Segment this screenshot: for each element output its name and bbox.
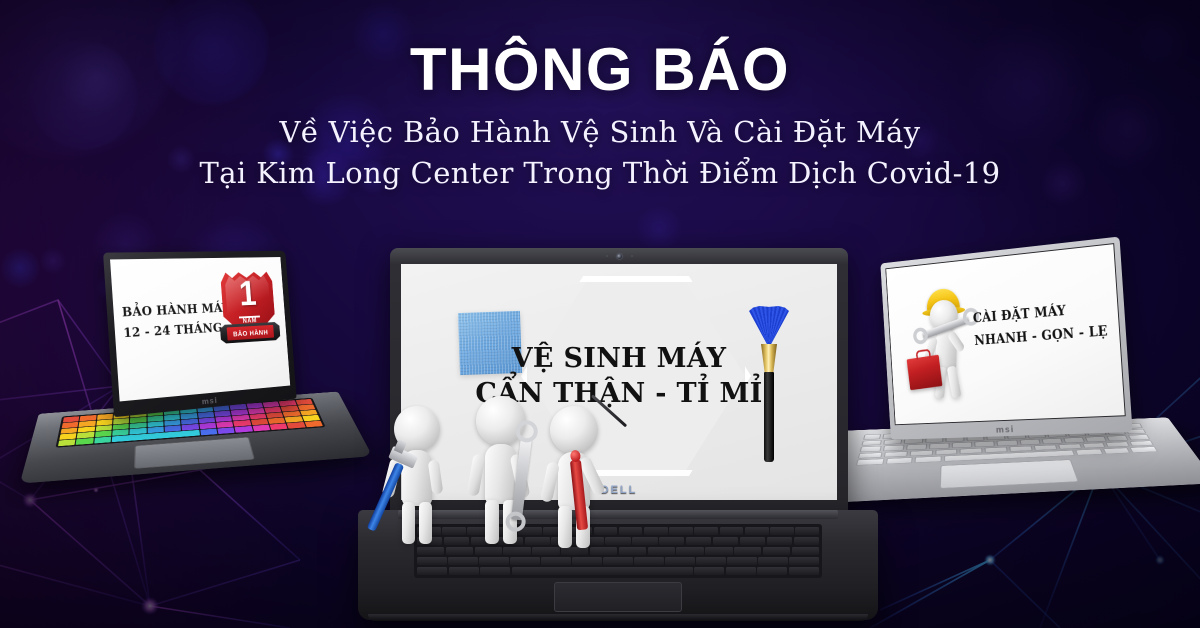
warranty-headline-line-2: 12 - 24 THÁNG	[123, 318, 232, 345]
warranty-badge: 1 NĂM BẢO HÀNH	[216, 271, 282, 358]
left-laptop-screen: BẢO HÀNH MÁY 12 - 24 THÁNG 1 NĂM BẢO HÀN…	[110, 257, 290, 401]
left-laptop-lid: BẢO HÀNH MÁY 12 - 24 THÁNG 1 NĂM BẢO HÀN…	[103, 251, 297, 417]
banner-stage: THÔNG BÁO Về Việc Bảo Hành Vệ Sinh Và Cà…	[0, 0, 1200, 628]
page-title: THÔNG BÁO	[0, 38, 1200, 101]
subtitle-line-2: Tại Kim Long Center Trong Thời Điểm Dịch…	[0, 156, 1200, 190]
right-laptop-trackpad	[940, 459, 1079, 488]
webcam-icon	[617, 254, 622, 259]
center-laptop-cleaning: VỆ SINH MÁY CẨN THẬN - TỈ MỈ DELL	[358, 248, 878, 620]
cleaning-headline-line-1: VỆ SINH MÁY	[401, 342, 837, 377]
installation-headline: CÀI ĐẶT MÁY NHANH - GỌN - LẸ	[972, 297, 1108, 353]
title-block: THÔNG BÁO Về Việc Bảo Hành Vệ Sinh Và Cà…	[0, 0, 1200, 190]
subtitle-line-1: Về Việc Bảo Hành Vệ Sinh Và Cài Đặt Máy	[0, 115, 1200, 149]
right-laptop-installation: CÀI ĐẶT MÁY NHANH - GỌN - LẸ msi	[848, 232, 1188, 582]
mic-dot-left	[606, 255, 608, 257]
pointer-stick	[592, 394, 638, 464]
left-laptop-trackpad	[134, 437, 255, 469]
right-laptop-lid: CÀI ĐẶT MÁY NHANH - GỌN - LẸ msi	[880, 237, 1132, 440]
center-laptop-top-bezel	[390, 248, 848, 264]
right-laptop-screen: CÀI ĐẶT MÁY NHANH - GỌN - LẸ	[885, 243, 1125, 425]
badge-ribbon-label: BẢO HÀNH	[233, 327, 269, 337]
mic-dot-right	[631, 255, 633, 257]
figure-hammer	[380, 406, 466, 546]
badge-number: 1	[220, 276, 274, 313]
toolbox-icon	[907, 355, 943, 391]
figure-screwdriver	[536, 406, 632, 548]
center-laptop-trackpad	[554, 582, 682, 612]
warranty-headline: BẢO HÀNH MÁY 12 - 24 THÁNG	[121, 298, 232, 344]
center-laptop-front-edge	[368, 614, 868, 621]
left-laptop-warranty: BẢO HÀNH MÁY 12 - 24 THÁNG 1 NĂM BẢO HÀN…	[9, 239, 357, 587]
